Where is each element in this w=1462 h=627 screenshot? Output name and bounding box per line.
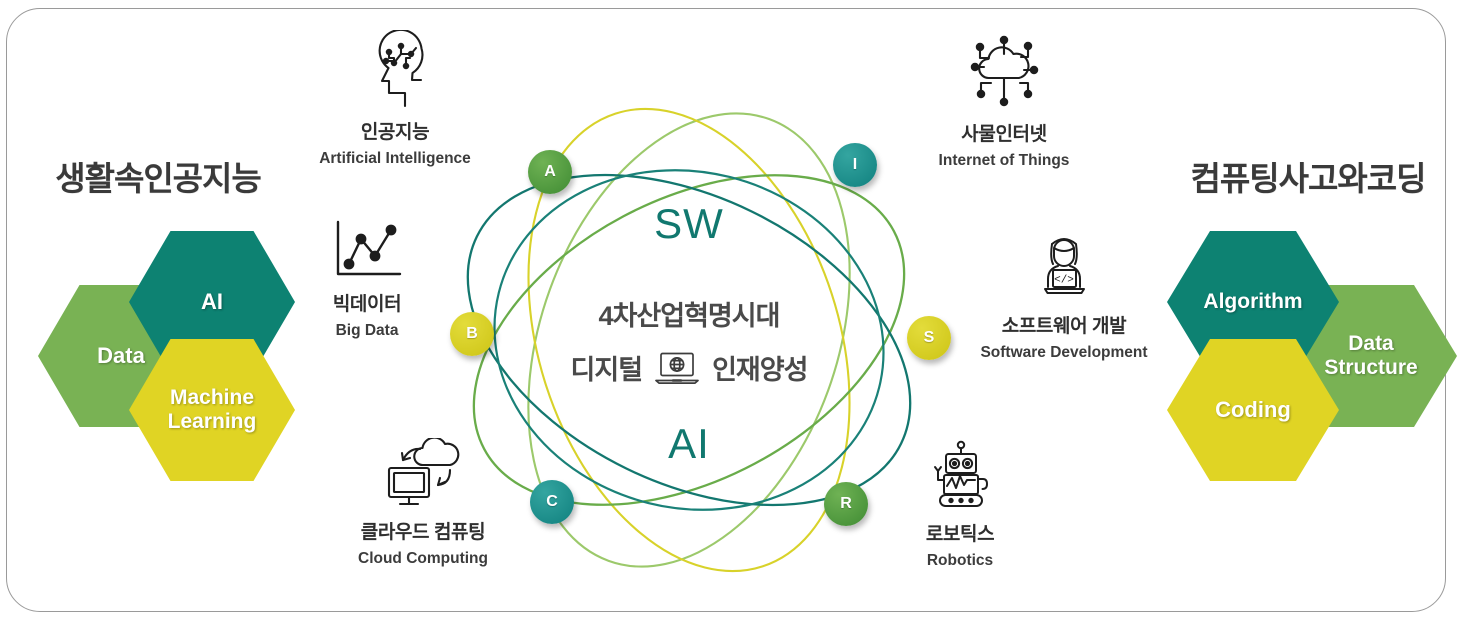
hexagon-machine-learning-label: Machine Learning [168,386,257,433]
center-top-label: SW [424,200,954,248]
hex-ds-line1: Data [1348,332,1394,355]
hexagon-coding-label: Coding [1215,398,1291,423]
heading-left: 생활속인공지능 [28,152,288,200]
keyword-software-development[interactable]: </> 소프트웨어 개발 Software Development [962,232,1166,362]
center-line1: 4차산업혁명시대 [424,294,954,333]
keyword-artificial-intelligence[interactable]: 인공지능 Artificial Intelligence [286,30,504,168]
developer-laptop-icon: </> [962,232,1166,309]
badge-r[interactable]: R [824,482,868,526]
infographic-canvas: 생활속인공지능 컴퓨팅사고와코딩 Data AI Machine Learnin… [0,0,1462,627]
center-line2: 디지털 인재양성 [424,348,954,387]
badge-c[interactable]: C [530,480,574,524]
keyword-sd-en: Software Development [962,344,1166,362]
hex-ml-line1: Machine [170,386,254,409]
keyword-internet-of-things[interactable]: 사물인터넷 Internet of Things [895,30,1113,170]
robot-icon [877,438,1043,517]
keyword-rb-kr: 로보틱스 [877,523,1043,547]
hex-ml-line2: Learning [168,410,257,433]
badge-i[interactable]: I [833,143,877,187]
keyword-ai-en: Artificial Intelligence [286,150,504,168]
laptop-globe-icon [654,351,700,385]
keyword-rb-en: Robotics [877,552,1043,570]
hexagon-data-structure-label: Data Structure [1324,332,1417,379]
keyword-cc-kr: 클라우드 컴퓨팅 [322,521,524,545]
keyword-iot-kr: 사물인터넷 [895,123,1113,147]
hex-ds-line2: Structure [1324,356,1417,379]
badge-c-letter: C [546,493,558,511]
keyword-cloud-computing[interactable]: 클라우드 컴퓨팅 Cloud Computing [322,438,524,568]
cloud-network-icon [895,30,1113,117]
badge-r-letter: R [840,495,852,513]
keyword-ai-kr: 인공지능 [286,121,504,145]
keyword-bd-kr: 빅데이터 [286,293,448,317]
badge-i-letter: I [853,156,857,174]
heading-right: 컴퓨팅사고와코딩 [1172,152,1444,200]
badge-s-letter: S [924,329,935,347]
badge-a[interactable]: A [528,150,572,194]
hexagon-ai-label: AI [201,290,223,315]
center-line2-after: 인재양성 [712,348,807,387]
keyword-bd-en: Big Data [286,322,448,340]
cloud-monitor-sync-icon [322,438,524,515]
keyword-big-data[interactable]: 빅데이터 Big Data [286,218,448,340]
line-chart-icon [286,218,448,287]
hexagon-data-label: Data [97,344,145,369]
svg-text:</>: </> [1054,275,1074,287]
hexagon-algorithm-label: Algorithm [1203,290,1302,314]
badge-a-letter: A [544,163,556,181]
center-line2-before: 디지털 [571,348,643,387]
badge-b[interactable]: B [450,312,494,356]
badge-b-letter: B [466,325,478,343]
brain-head-circuit-icon [286,30,504,115]
keyword-iot-en: Internet of Things [895,152,1113,170]
badge-s[interactable]: S [907,316,951,360]
keyword-cc-en: Cloud Computing [322,550,524,568]
keyword-sd-kr: 소프트웨어 개발 [962,315,1166,339]
keyword-robotics[interactable]: 로보틱스 Robotics [877,438,1043,570]
